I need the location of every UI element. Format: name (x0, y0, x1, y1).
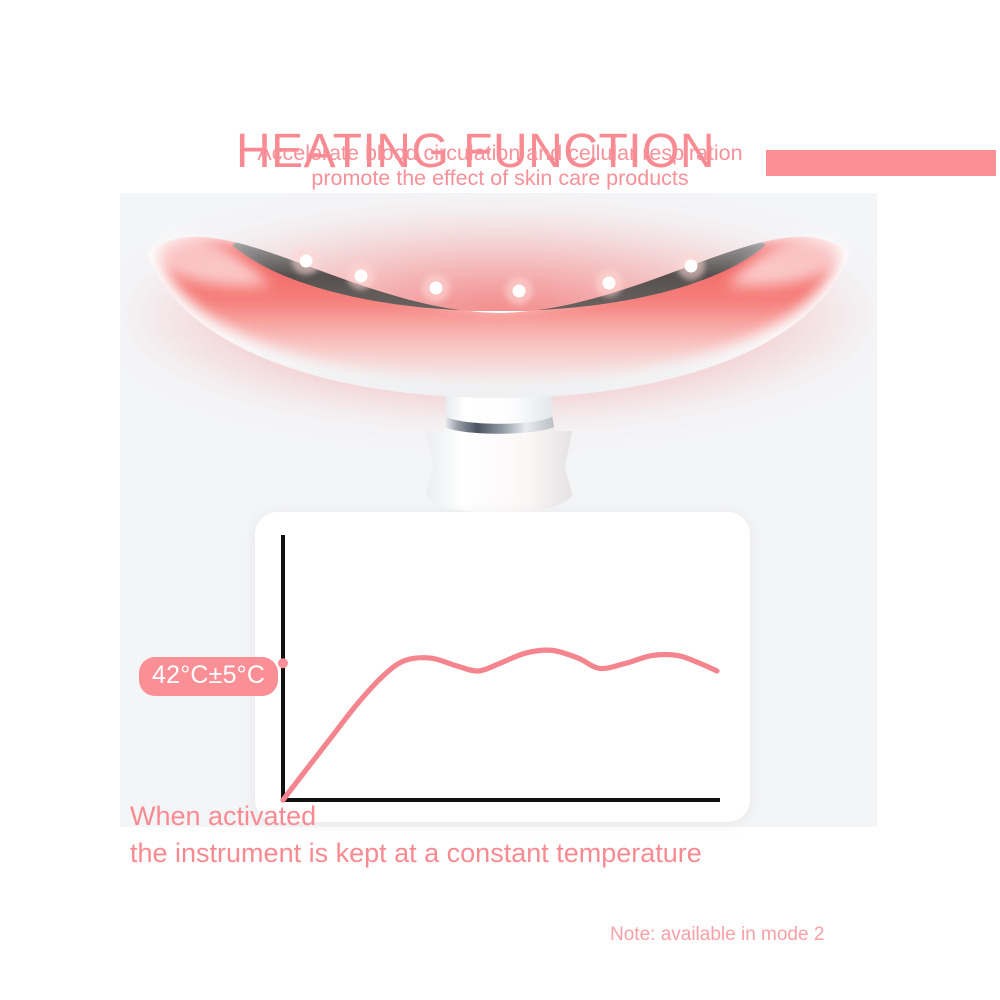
temperature-curve (283, 650, 717, 800)
marketing-slide: HEATING FUNCTION Accelerate blood circul… (0, 0, 1000, 1000)
caption-line-1: When activated (130, 801, 316, 831)
footnote: Note: available in mode 2 (610, 925, 824, 944)
caption-line-2: the instrument is kept at a constant tem… (130, 835, 702, 872)
subtitle-line-2: promote the effect of skin care products (0, 166, 1000, 191)
temperature-chart (255, 512, 750, 822)
target-temperature-badge: 42°C±5°C (139, 657, 278, 696)
subtitle: Accelerate blood circulation and cellula… (0, 141, 1000, 191)
target-temperature-marker (278, 658, 288, 668)
subtitle-line-1: Accelerate blood circulation and cellula… (257, 141, 742, 165)
caption: When activated the instrument is kept at… (130, 798, 702, 872)
title-row: HEATING FUNCTION (0, 66, 1000, 122)
